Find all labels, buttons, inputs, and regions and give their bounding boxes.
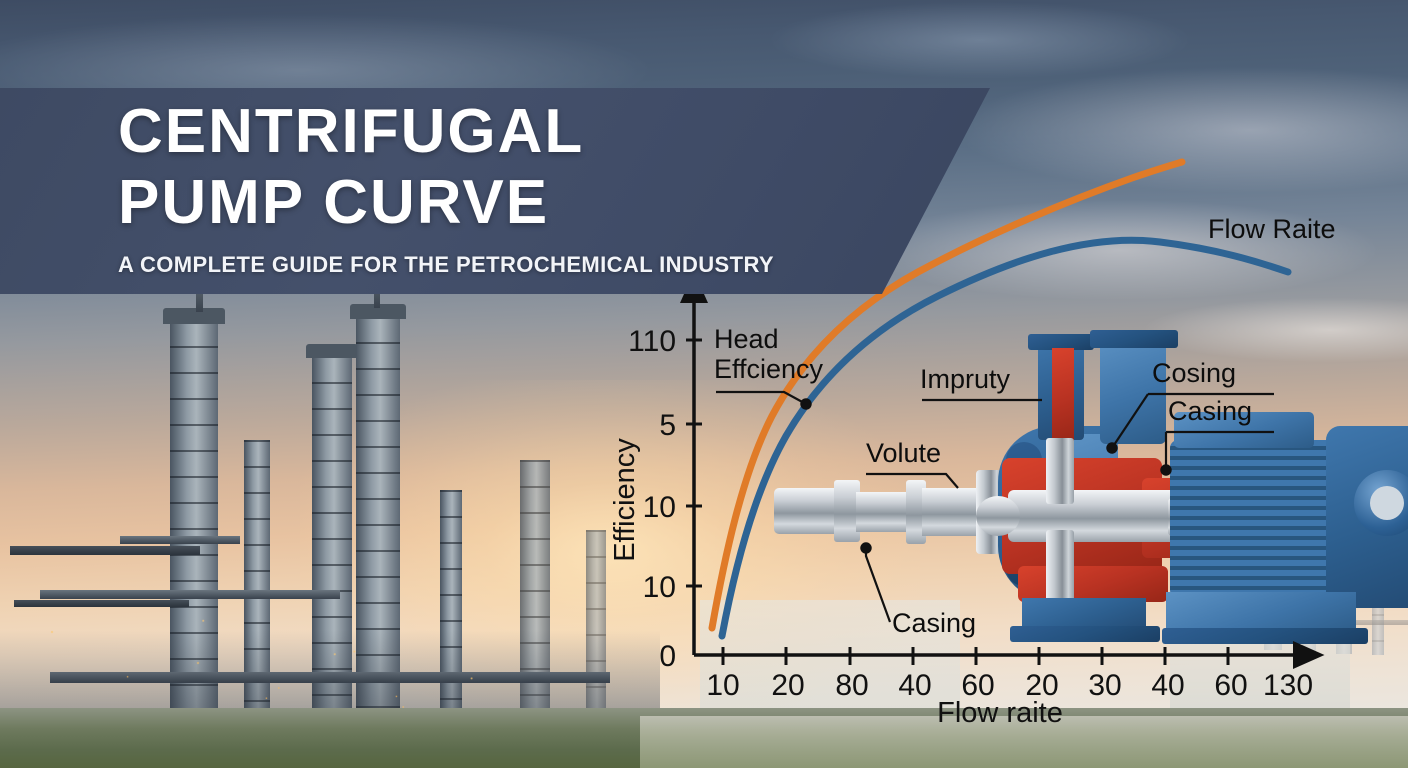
y-tick-label: 0 <box>659 640 676 673</box>
x-axis-title: Flow raite <box>937 697 1063 729</box>
title-banner: CENTRIFUGAL PUMP CURVE A COMPLETE GUIDE … <box>0 88 990 294</box>
y-tick-label: 5 <box>659 409 676 442</box>
callout-label: Impruty <box>920 364 1011 394</box>
x-tick-label: 10 <box>706 669 739 702</box>
x-tick-label: 40 <box>898 669 931 702</box>
annotation-flow-raite-label: Flow Raite <box>1208 214 1336 244</box>
x-tick-label: 60 <box>1214 669 1247 702</box>
annotation-efficiency-label: Effciency <box>714 354 824 384</box>
infographic-canvas: 110 5 10 10 0 10 20 80 40 60 20 30 40 60… <box>0 0 1408 768</box>
callout-label: Casing <box>1168 396 1252 426</box>
y-tick-label: 10 <box>643 491 676 524</box>
annotation-leader-line <box>716 392 806 404</box>
pump-callout-casing-right: Casing <box>1166 396 1274 470</box>
y-axis-title: Efficiency <box>609 438 641 562</box>
annotation-head-efficiency: Head Effciency <box>714 324 824 404</box>
callout-label: Volute <box>866 438 941 468</box>
x-tick-label: 30 <box>1088 669 1121 702</box>
title-banner-content: CENTRIFUGAL PUMP CURVE A COMPLETE GUIDE … <box>118 102 878 278</box>
page-title-line-2: PUMP CURVE <box>118 173 878 234</box>
page-subtitle: A COMPLETE GUIDE FOR THE PETROCHEMICAL I… <box>118 252 878 278</box>
x-tick-label: 130 <box>1263 669 1313 702</box>
callout-label: Cosing <box>1152 358 1236 388</box>
efficiency-curve <box>722 240 1288 636</box>
page-title-line-1: CENTRIFUGAL <box>118 102 878 163</box>
pump-callout-volute: Volute <box>866 438 958 488</box>
callout-label: Casing <box>892 608 976 638</box>
x-tick-label: 20 <box>771 669 804 702</box>
x-tick-label: 40 <box>1151 669 1184 702</box>
pump-callout-casing-left: Casing <box>866 548 976 638</box>
y-tick-label: 10 <box>643 571 676 604</box>
x-tick-label: 80 <box>835 669 868 702</box>
annotation-head-label: Head <box>714 324 779 354</box>
pump-callout-impruty: Impruty <box>920 364 1042 400</box>
y-tick-label: 110 <box>628 325 676 358</box>
